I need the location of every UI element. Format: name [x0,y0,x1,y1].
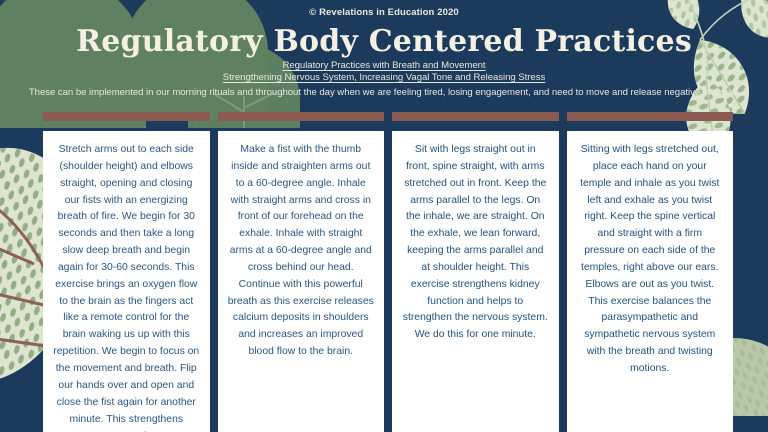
practice-card: Sit with legs straight out in front, spi… [392,112,559,432]
card-spacer [43,121,210,131]
card-spacer [392,121,559,131]
subtitle-line-1: Regulatory Practices with Breath and Mov… [0,60,768,72]
card-text: Sit with legs straight out in front, spi… [392,131,559,432]
card-text: Stretch arms out to each side (shoulder … [43,131,210,432]
copyright-notice: © Revelations in Education 2020 [0,7,768,18]
card-spacer [218,121,385,131]
card-accent-bar [392,112,559,121]
poster-canvas: © Revelations in Education 2020 Regulato… [0,0,768,432]
card-accent-bar [567,112,734,121]
card-spacer [567,121,734,131]
intro-paragraph: These can be implemented in our morning … [0,87,768,100]
subtitle-line-2: Strengthening Nervous System, Increasing… [0,72,768,84]
subtitle-block: Regulatory Practices with Breath and Mov… [0,60,768,99]
practice-card: Sitting with legs stretched out, place e… [567,112,734,432]
practice-card: Stretch arms out to each side (shoulder … [43,112,210,432]
practice-card: Make a fist with the thumb inside and st… [218,112,385,432]
page-title: Regulatory Body Centered Practices [0,24,768,59]
card-text: Sitting with legs stretched out, place e… [567,131,734,432]
practice-card-list: Stretch arms out to each side (shoulder … [43,112,733,432]
card-text: Make a fist with the thumb inside and st… [218,131,385,432]
card-accent-bar [43,112,210,121]
card-accent-bar [218,112,385,121]
